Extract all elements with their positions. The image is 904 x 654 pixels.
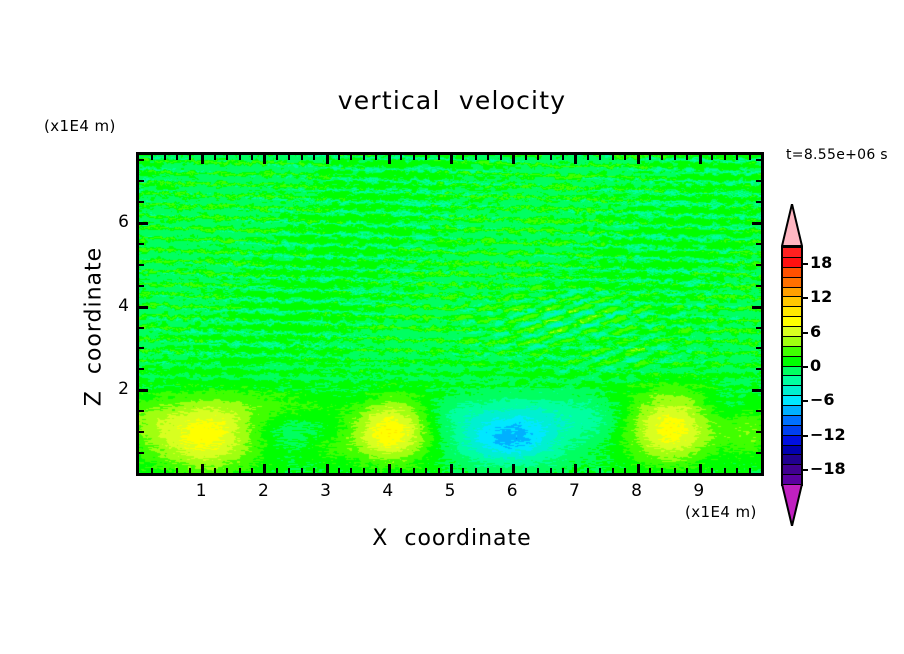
x-major-tick-top	[637, 155, 640, 164]
colorbar-segments	[781, 246, 803, 486]
colorbar-label: −12	[810, 425, 846, 444]
x-major-tick	[201, 464, 204, 473]
x-minor-tick-top	[301, 155, 303, 160]
x-minor-tick	[151, 468, 153, 473]
y-minor-tick-right	[756, 201, 761, 203]
y-minor-tick-right	[756, 410, 761, 412]
x-minor-tick-top	[425, 155, 427, 160]
x-major-tick-top	[450, 155, 453, 164]
colorbar-segment	[783, 406, 801, 416]
x-tick-label: 4	[373, 481, 403, 501]
colorbar-label: 0	[810, 356, 821, 375]
colorbar-segment	[783, 446, 801, 456]
colorbar-segment	[783, 475, 801, 484]
y-minor-tick-right	[756, 180, 761, 182]
x-minor-tick	[537, 468, 539, 473]
x-minor-tick-top	[350, 155, 352, 160]
x-tick-label: 3	[311, 481, 341, 501]
x-minor-tick	[525, 468, 527, 473]
y-minor-tick	[139, 201, 144, 203]
y-axis-title: Z coordinate	[82, 227, 107, 427]
x-minor-tick	[475, 468, 477, 473]
x-minor-tick-top	[500, 155, 502, 160]
y-tick-label: 4	[103, 296, 129, 316]
contour-field-canvas	[139, 155, 761, 473]
y-minor-tick	[139, 243, 144, 245]
colorbar-segment	[783, 376, 801, 386]
x-minor-tick	[400, 468, 402, 473]
colorbar-tick	[803, 332, 808, 334]
x-minor-tick	[438, 468, 440, 473]
x-minor-tick-top	[176, 155, 178, 160]
x-minor-tick-top	[251, 155, 253, 160]
colorbar-bottom-arrow-icon	[781, 484, 803, 526]
colorbar-segment	[783, 367, 801, 377]
y-tick-label: 6	[103, 212, 129, 232]
y-major-tick	[139, 222, 148, 225]
y-minor-tick	[139, 368, 144, 370]
x-minor-tick	[226, 468, 228, 473]
colorbar-segment	[783, 396, 801, 406]
colorbar-segment	[783, 268, 801, 278]
x-minor-tick-top	[164, 155, 166, 160]
figure-root: vertical velocity (x1E4 m) t=8.55e+06 s …	[0, 0, 904, 654]
x-minor-tick	[338, 468, 340, 473]
x-minor-tick-top	[612, 155, 614, 160]
colorbar-label: 6	[810, 322, 821, 341]
x-axis-unit-label: (x1E4 m)	[685, 503, 757, 521]
x-minor-tick-top	[599, 155, 601, 160]
colorbar-top-arrow-icon	[781, 204, 803, 246]
x-minor-tick	[550, 468, 552, 473]
colorbar-segment	[783, 455, 801, 465]
x-minor-tick-top	[313, 155, 315, 160]
colorbar-segment	[783, 386, 801, 396]
x-major-tick	[263, 464, 266, 473]
x-minor-tick	[686, 468, 688, 473]
x-minor-tick	[176, 468, 178, 473]
timestamp-annotation: t=8.55e+06 s	[786, 147, 888, 163]
colorbar-segment	[783, 317, 801, 327]
x-tick-label: 7	[559, 481, 589, 501]
colorbar-segment	[783, 307, 801, 317]
x-minor-tick-top	[487, 155, 489, 160]
y-major-tick-right	[752, 389, 761, 392]
y-major-tick	[139, 389, 148, 392]
x-minor-tick-top	[686, 155, 688, 160]
colorbar-segment	[783, 278, 801, 288]
y-minor-tick-right	[756, 452, 761, 454]
x-minor-tick	[487, 468, 489, 473]
y-minor-tick	[139, 285, 144, 287]
x-minor-tick-top	[649, 155, 651, 160]
x-minor-tick	[214, 468, 216, 473]
colorbar-segment	[783, 337, 801, 347]
y-minor-tick	[139, 264, 144, 266]
y-minor-tick	[139, 327, 144, 329]
x-major-tick	[450, 464, 453, 473]
y-minor-tick	[139, 410, 144, 412]
x-minor-tick	[350, 468, 352, 473]
x-minor-tick	[649, 468, 651, 473]
x-minor-tick	[749, 468, 751, 473]
x-minor-tick-top	[550, 155, 552, 160]
y-minor-tick-right	[756, 327, 761, 329]
x-minor-tick	[239, 468, 241, 473]
x-major-tick-top	[512, 155, 515, 164]
x-tick-label: 6	[497, 481, 527, 501]
x-tick-label: 5	[435, 481, 465, 501]
x-minor-tick	[363, 468, 365, 473]
y-minor-tick-right	[756, 264, 761, 266]
colorbar-segment	[783, 347, 801, 357]
y-major-tick-right	[752, 306, 761, 309]
x-minor-tick	[288, 468, 290, 473]
x-minor-tick-top	[661, 155, 663, 160]
x-axis-title: X coordinate	[0, 526, 904, 551]
x-major-tick-top	[263, 155, 266, 164]
x-minor-tick-top	[525, 155, 527, 160]
page-title: vertical velocity	[0, 86, 904, 115]
colorbar-segment	[783, 416, 801, 426]
x-minor-tick-top	[226, 155, 228, 160]
x-minor-tick-top	[375, 155, 377, 160]
x-minor-tick-top	[587, 155, 589, 160]
colorbar-tick	[803, 469, 808, 471]
y-minor-tick	[139, 431, 144, 433]
x-minor-tick	[313, 468, 315, 473]
x-minor-tick-top	[189, 155, 191, 160]
x-tick-label: 2	[248, 481, 278, 501]
x-minor-tick-top	[239, 155, 241, 160]
x-minor-tick	[724, 468, 726, 473]
x-major-tick	[699, 464, 702, 473]
colorbar-tick	[803, 297, 808, 299]
x-major-tick-top	[574, 155, 577, 164]
x-minor-tick	[612, 468, 614, 473]
x-major-tick	[637, 464, 640, 473]
x-minor-tick-top	[475, 155, 477, 160]
x-minor-tick-top	[736, 155, 738, 160]
colorbar-label: 18	[810, 253, 832, 272]
y-major-tick	[139, 306, 148, 309]
x-minor-tick	[674, 468, 676, 473]
colorbar-tick	[803, 435, 808, 437]
x-minor-tick	[624, 468, 626, 473]
colorbar-label: 12	[810, 287, 832, 306]
x-minor-tick	[413, 468, 415, 473]
x-minor-tick	[276, 468, 278, 473]
x-minor-tick	[164, 468, 166, 473]
y-minor-tick	[139, 180, 144, 182]
colorbar-segment	[783, 327, 801, 337]
colorbar-tick	[803, 263, 808, 265]
x-minor-tick-top	[363, 155, 365, 160]
x-minor-tick	[587, 468, 589, 473]
x-minor-tick	[711, 468, 713, 473]
x-tick-label: 1	[186, 481, 216, 501]
x-minor-tick	[375, 468, 377, 473]
x-tick-label: 9	[684, 481, 714, 501]
y-minor-tick	[139, 452, 144, 454]
colorbar-segment	[783, 465, 801, 475]
x-major-tick	[512, 464, 515, 473]
colorbar-segment	[783, 426, 801, 436]
x-major-tick-top	[699, 155, 702, 164]
colorbar-tick	[803, 366, 808, 368]
colorbar-label: −18	[810, 459, 846, 478]
x-major-tick	[388, 464, 391, 473]
x-minor-tick-top	[214, 155, 216, 160]
x-minor-tick	[425, 468, 427, 473]
y-tick-label: 2	[103, 379, 129, 399]
x-minor-tick	[562, 468, 564, 473]
x-major-tick	[574, 464, 577, 473]
x-major-tick-top	[326, 155, 329, 164]
y-axis-unit-label: (x1E4 m)	[44, 117, 116, 135]
y-minor-tick-right	[756, 159, 761, 161]
x-minor-tick-top	[438, 155, 440, 160]
x-minor-tick-top	[338, 155, 340, 160]
x-minor-tick-top	[537, 155, 539, 160]
y-major-tick-right	[752, 222, 761, 225]
x-minor-tick	[599, 468, 601, 473]
x-major-tick-top	[388, 155, 391, 164]
x-tick-label: 8	[622, 481, 652, 501]
x-minor-tick-top	[288, 155, 290, 160]
x-minor-tick-top	[724, 155, 726, 160]
x-minor-tick	[301, 468, 303, 473]
y-minor-tick-right	[756, 431, 761, 433]
colorbar-tick	[803, 400, 808, 402]
x-major-tick	[326, 464, 329, 473]
y-minor-tick-right	[756, 243, 761, 245]
x-minor-tick-top	[562, 155, 564, 160]
x-minor-tick-top	[151, 155, 153, 160]
colorbar-segment	[783, 436, 801, 446]
y-minor-tick-right	[756, 285, 761, 287]
y-minor-tick	[139, 347, 144, 349]
x-minor-tick-top	[674, 155, 676, 160]
x-minor-tick-top	[462, 155, 464, 160]
x-minor-tick	[500, 468, 502, 473]
colorbar-segment	[783, 248, 801, 258]
colorbar-label: −6	[810, 390, 835, 409]
x-major-tick-top	[201, 155, 204, 164]
colorbar-segment	[783, 357, 801, 367]
x-minor-tick-top	[749, 155, 751, 160]
x-minor-tick	[251, 468, 253, 473]
x-minor-tick	[189, 468, 191, 473]
x-minor-tick	[661, 468, 663, 473]
y-minor-tick	[139, 159, 144, 161]
colorbar-segment	[783, 258, 801, 268]
x-minor-tick-top	[413, 155, 415, 160]
colorbar-segment	[783, 288, 801, 298]
y-minor-tick-right	[756, 347, 761, 349]
x-minor-tick-top	[711, 155, 713, 160]
y-minor-tick-right	[756, 368, 761, 370]
x-minor-tick-top	[276, 155, 278, 160]
x-minor-tick	[736, 468, 738, 473]
x-minor-tick-top	[400, 155, 402, 160]
plot-area	[136, 152, 764, 476]
colorbar: 181260−6−12−18	[781, 206, 803, 526]
x-minor-tick-top	[624, 155, 626, 160]
colorbar-segment	[783, 297, 801, 307]
x-minor-tick	[462, 468, 464, 473]
